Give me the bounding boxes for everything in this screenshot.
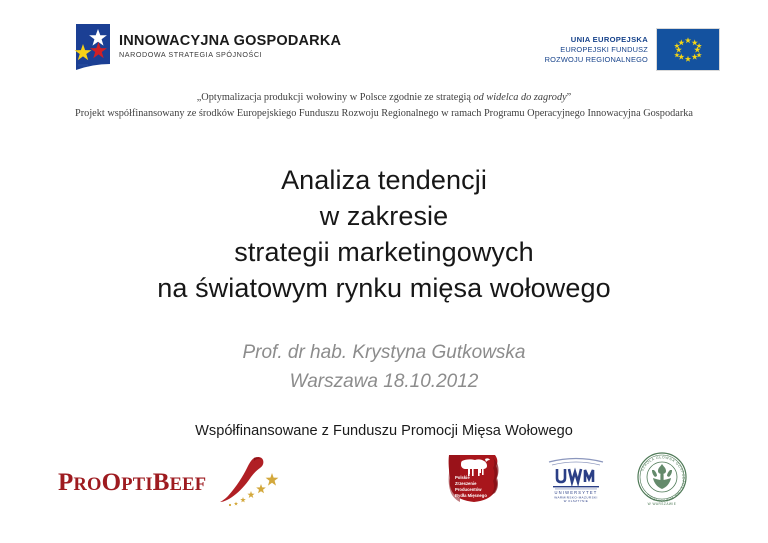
cofunding-statement: Współfinansowane z Funduszu Promocji Mię… bbox=[0, 423, 768, 439]
eu-line-3: ROZWOJU REGIONALNEGO bbox=[545, 55, 648, 65]
ig-title: INNOWACYJNA GOSPODARKA bbox=[119, 34, 341, 49]
european-union-flag-icon bbox=[656, 28, 720, 71]
ig-subtitle: NARODOWA STRATEGIA SPÓJNOŚCI bbox=[119, 51, 341, 58]
author-block: Prof. dr hab. Krystyna Gutkowska Warszaw… bbox=[0, 338, 768, 397]
pob-char-eef: EEF bbox=[170, 475, 207, 495]
prooptibeef-wordmark: PROOPTIBEEF bbox=[58, 470, 206, 495]
eu-line-2: EUROPEJSKI FUNDUSZ bbox=[545, 45, 648, 55]
project-note-quote-prefix: „Optymalizacja produkcji wołowiny w Pols… bbox=[197, 92, 474, 103]
top-logo-band: INNOWACYJNA GOSPODARKA NARODOWA STRATEGI… bbox=[0, 22, 768, 80]
pob-char-o: O bbox=[102, 469, 122, 496]
uwm-text-line-3: W OLSZTYNIE bbox=[564, 499, 588, 503]
title-line-1: Analiza tendencji bbox=[0, 163, 768, 199]
pob-char-ro: RO bbox=[73, 475, 101, 495]
pzpbm-text-line-4: Bydła Mięsnego bbox=[455, 493, 487, 498]
project-note-line-1: „Optymalizacja produkcji wołowiny w Pols… bbox=[0, 90, 768, 106]
title-line-2: w zakresie bbox=[0, 199, 768, 235]
partner-logo-row: PROOPTIBEEF bbox=[0, 448, 768, 518]
eu-wordmark: UNIA EUROPEJSKA EUROPEJSKI FUNDUSZ ROZWO… bbox=[545, 35, 648, 65]
pob-char-b: B bbox=[153, 469, 170, 496]
innowacyjna-gospodarka-wordmark: INNOWACYJNA GOSPODARKA NARODOWA STRATEGI… bbox=[119, 34, 341, 61]
prooptibeef-logo: PROOPTIBEEF bbox=[58, 456, 284, 508]
uwm-text-line-1: UNIWERSYTET bbox=[555, 490, 598, 495]
uwm-university-icon: UNIWERSYTET WARMIŃSKO-MAZURSKI W OLSZTYN… bbox=[543, 454, 609, 502]
project-note-quote-suffix: ” bbox=[567, 92, 572, 103]
project-note-line-2: Projekt współfinansowany ze środków Euro… bbox=[0, 106, 768, 122]
author-place-date: Warszawa 18.10.2012 bbox=[0, 367, 768, 396]
project-note-strategy-italic: od widelca do zagrody bbox=[474, 92, 567, 103]
innowacyjna-gospodarka-stars-icon bbox=[74, 24, 110, 70]
eu-line-1: UNIA EUROPEJSKA bbox=[545, 35, 648, 45]
prooptibeef-bull-icon bbox=[210, 456, 284, 508]
pob-char-p: P bbox=[58, 469, 73, 496]
uwm-logo: UNIWERSYTET WARMIŃSKO-MAZURSKI W OLSZTYN… bbox=[543, 454, 609, 502]
title-line-3: strategii marketingowych bbox=[0, 235, 768, 271]
pzpbm-text-line-1: Polskie bbox=[455, 475, 470, 480]
presentation-title-slide: INNOWACYJNA GOSPODARKA NARODOWA STRATEGI… bbox=[0, 0, 768, 543]
pzpbm-logo: Polskie Zrzeszenie Producentów Bydła Mię… bbox=[446, 453, 502, 503]
project-funding-note: „Optymalizacja produkcji wołowiny w Pols… bbox=[0, 90, 768, 122]
title-line-4: na światowym rynku mięsa wołowego bbox=[0, 271, 768, 307]
pzpbm-cow-shield-icon: Polskie Zrzeszenie Producentów Bydła Mię… bbox=[446, 453, 502, 503]
pzpbm-text-line-2: Zrzeszenie bbox=[455, 481, 477, 486]
european-union-logo: UNIA EUROPEJSKA EUROPEJSKI FUNDUSZ ROZWO… bbox=[545, 28, 720, 71]
pzpbm-text-line-3: Producentów bbox=[455, 487, 482, 492]
sggw-logo: SZKOŁA GŁÓWNA GOSPODARSTWA WIEJSKIEGO W … bbox=[633, 450, 691, 508]
sggw-seal-icon: SZKOŁA GŁÓWNA GOSPODARSTWA WIEJSKIEGO W … bbox=[633, 450, 691, 508]
author-name: Prof. dr hab. Krystyna Gutkowska bbox=[0, 338, 768, 367]
sggw-base-text: W WARSZAWIE bbox=[648, 502, 677, 506]
innowacyjna-gospodarka-logo: INNOWACYJNA GOSPODARKA NARODOWA STRATEGI… bbox=[74, 24, 341, 70]
page-title: Analiza tendencji w zakresie strategii m… bbox=[0, 163, 768, 307]
pob-char-pti: PTI bbox=[121, 475, 152, 495]
